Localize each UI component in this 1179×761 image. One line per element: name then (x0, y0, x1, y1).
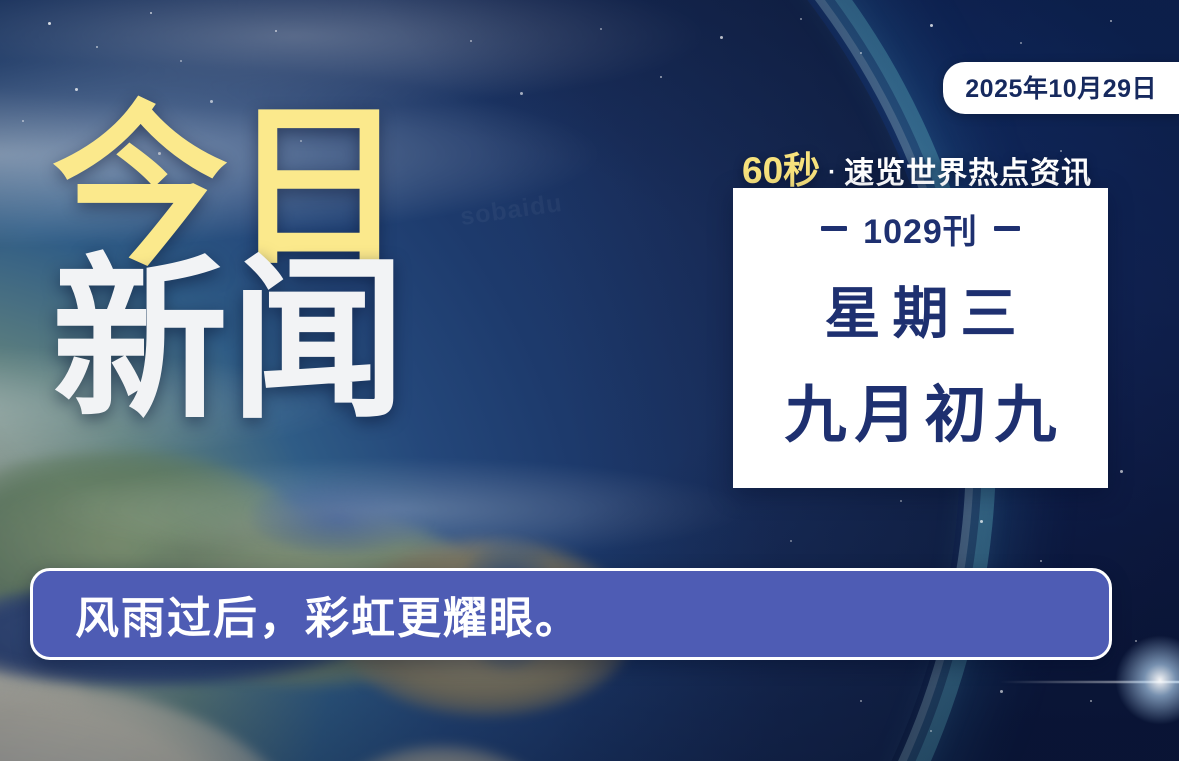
weekday-label: 星期三 (813, 269, 1029, 350)
tagline-highlight: 60秒 (742, 140, 820, 194)
quote-bar: 风雨过后，彩虹更耀眼。 (30, 568, 1112, 660)
headline-line-news: 新闻 (52, 257, 408, 426)
tagline: 60秒 · 速览世界热点资讯 (742, 140, 1092, 194)
dash-left-icon (821, 226, 847, 231)
page-title: 今日 新闻 (52, 104, 408, 426)
date-info-card: 1029刊 星期三 九月初九 (733, 188, 1108, 488)
date-badge: 2025年10月29日 (943, 62, 1179, 114)
tagline-description: 速览世界热点资讯 (844, 148, 1092, 192)
issue-row: 1029刊 (821, 204, 1020, 253)
news-poster: sobaidu 今日 新闻 2025年10月29日 60秒 · 速览世界热点资讯… (0, 0, 1179, 761)
issue-number: 1029刊 (863, 204, 978, 253)
quote-text: 风雨过后，彩虹更耀眼。 (75, 582, 581, 646)
lunar-date-label: 九月初九 (776, 364, 1064, 454)
tagline-separator-dot: · (828, 159, 836, 187)
dash-right-icon (994, 226, 1020, 231)
